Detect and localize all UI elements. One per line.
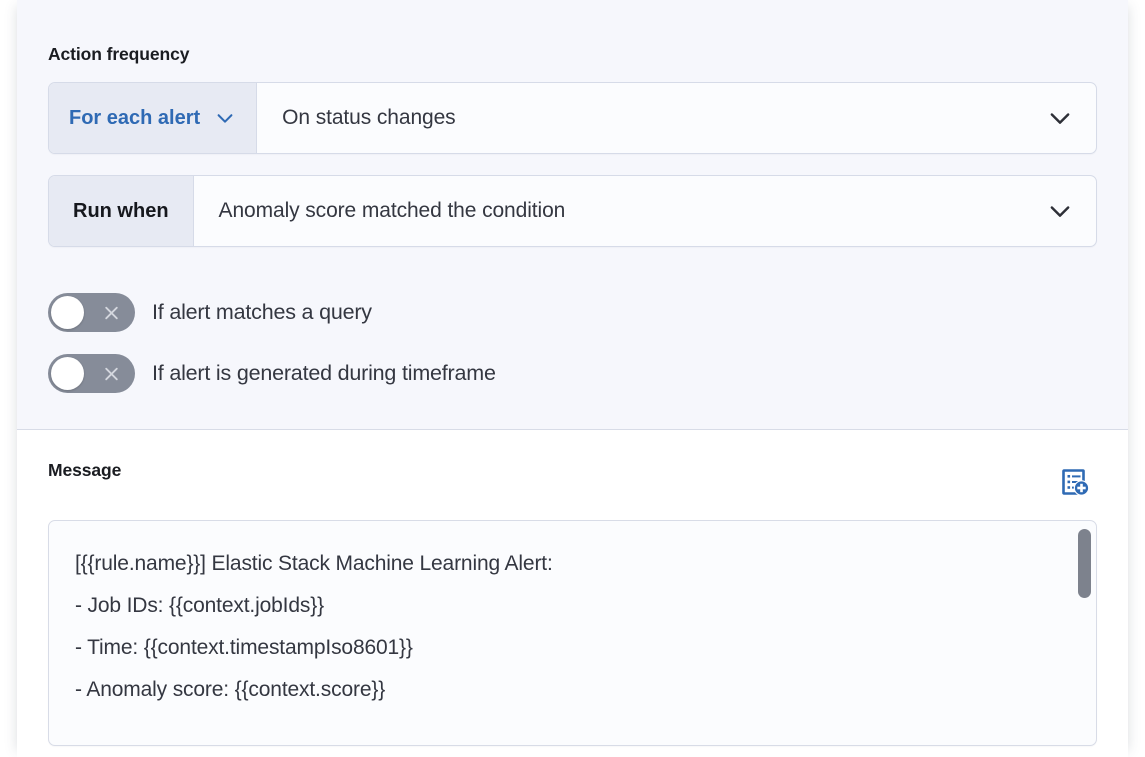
message-label: Message — [48, 460, 121, 481]
switch-alert-matches-query[interactable] — [48, 293, 135, 332]
notify-when-select[interactable]: On status changes — [257, 83, 1096, 153]
toggle-label-alert-timeframe: If alert is generated during timeframe — [152, 361, 496, 386]
chevron-down-icon — [214, 107, 236, 129]
add-variable-button[interactable] — [1059, 467, 1091, 499]
message-section: Message — [17, 430, 1128, 746]
run-when-label: Run when — [73, 200, 169, 223]
switch-alert-timeframe[interactable] — [48, 354, 135, 393]
message-header: Message — [48, 430, 1097, 499]
condition-toggles: If alert matches a query If alert is gen… — [48, 293, 1097, 393]
add-variable-icon — [1059, 487, 1091, 502]
action-frequency-title: Action frequency — [48, 0, 1097, 65]
chevron-down-icon — [1046, 104, 1074, 132]
message-scrollbar-thumb[interactable] — [1078, 529, 1091, 598]
switch-knob — [51, 296, 84, 329]
message-textarea-wrapper: [{{rule.name}}] Elastic Stack Machine Le… — [48, 520, 1097, 746]
close-x-icon — [103, 304, 120, 321]
notify-when-row: For each alert On status changes — [48, 82, 1097, 154]
message-scrollbar[interactable] — [1078, 526, 1091, 740]
toggle-label-alert-matches-query: If alert matches a query — [152, 300, 372, 325]
for-each-alert-label: For each alert — [69, 107, 200, 130]
run-when-value: Anomaly score matched the condition — [219, 199, 566, 223]
toggle-row-alert-matches-query: If alert matches a query — [48, 293, 1097, 332]
action-flyout-panel: Action frequency For each alert On statu… — [17, 0, 1128, 757]
close-x-icon — [103, 365, 120, 382]
chevron-down-icon — [1046, 197, 1074, 225]
run-when-row: Run when Anomaly score matched the condi… — [48, 175, 1097, 247]
notify-when-value: On status changes — [282, 106, 455, 130]
for-each-alert-button[interactable]: For each alert — [49, 83, 257, 153]
message-textarea[interactable]: [{{rule.name}}] Elastic Stack Machine Le… — [49, 521, 1096, 711]
action-frequency-section: Action frequency For each alert On statu… — [17, 0, 1128, 430]
switch-knob — [51, 357, 84, 390]
run-when-label-prepend: Run when — [49, 176, 194, 246]
run-when-select[interactable]: Anomaly score matched the condition — [194, 176, 1096, 246]
toggle-row-alert-timeframe: If alert is generated during timeframe — [48, 354, 1097, 393]
